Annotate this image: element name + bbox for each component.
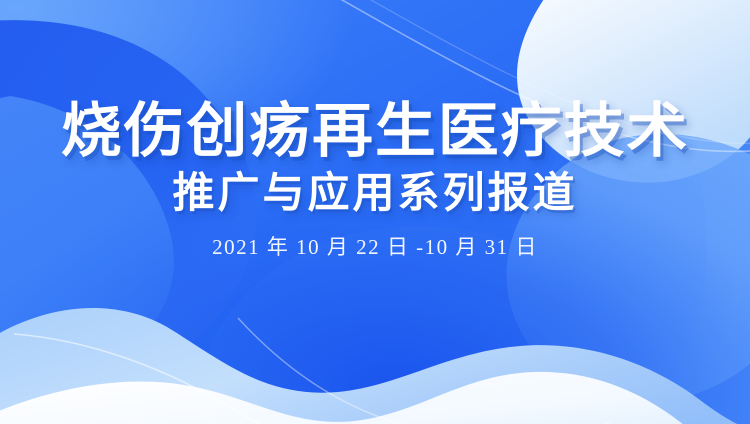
promo-banner: 烧伤创疡再生医疗技术 推广与应用系列报道 2021 年 10 月 22 日 -1… [0, 0, 750, 424]
background-decoration [0, 0, 750, 424]
